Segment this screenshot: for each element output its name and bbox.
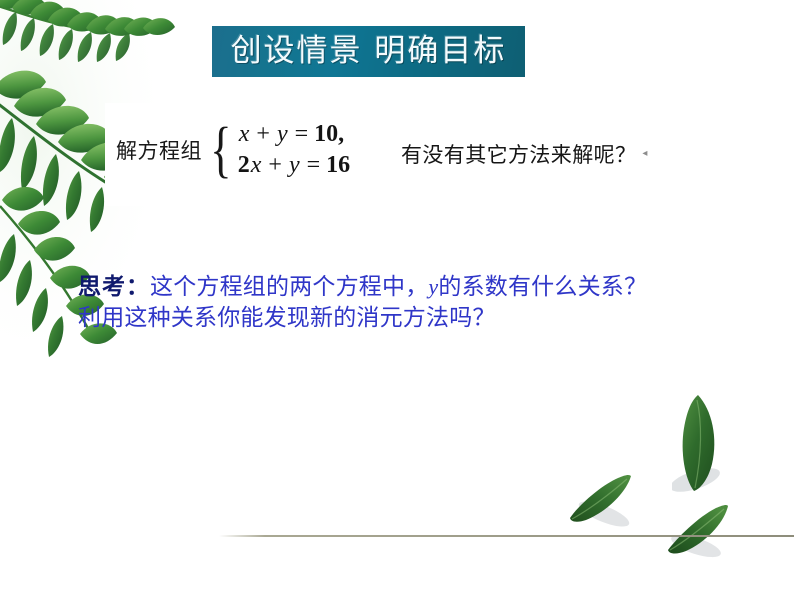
thinking-line-1-part2: 的系数有什么关系？ bbox=[438, 274, 647, 300]
thinking-line-2: 利用这种关系你能发现新的消元方法吗？ bbox=[78, 303, 738, 334]
equation-line-2: 2x + y = 16 bbox=[238, 153, 350, 178]
leaf-lower-right-icon bbox=[666, 502, 732, 560]
equation-line-1: x + y = 10, bbox=[238, 122, 350, 147]
leaf-upper-right-icon bbox=[672, 392, 724, 496]
leaf-middle-icon bbox=[570, 470, 636, 532]
thinking-line-1-part1: 这个方程组的两个方程中， bbox=[150, 274, 428, 300]
equation-line-1-rhs: 10, bbox=[314, 121, 344, 147]
side-prompt-text: 有没有其它方法来解呢？ bbox=[401, 139, 636, 169]
thinking-question-block: 思考：这个方程组的两个方程中，y的系数有什么关系？ 利用这种关系你能发现新的消元… bbox=[78, 272, 738, 333]
equation-group: 解方程组 { x + y = 10, 2x + y = 16 bbox=[116, 122, 350, 178]
page-title: 创设情景 明确目标 bbox=[231, 36, 507, 67]
slide-canvas: 创设情景 明确目标 解方程组 { x + y = 10, 2x + y = 16… bbox=[0, 0, 794, 596]
equation-line-2-rhs: 16 bbox=[326, 152, 350, 178]
equation-label: 解方程组 bbox=[116, 135, 202, 165]
slide-title-banner: 创设情景 明确目标 bbox=[212, 26, 525, 77]
thinking-line-1: 思考：这个方程组的两个方程中，y的系数有什么关系？ bbox=[78, 272, 738, 303]
thinking-lead-label: 思考： bbox=[78, 274, 150, 300]
animation-trigger-marker-icon[interactable]: ◂ bbox=[642, 149, 647, 159]
horizontal-divider bbox=[219, 535, 794, 537]
equation-system: x + y = 10, 2x + y = 16 bbox=[238, 122, 350, 178]
side-prompt-group: 有没有其它方法来解呢？ ◂ bbox=[401, 139, 647, 169]
equation-line-2-coeff: 2 bbox=[238, 152, 250, 178]
thinking-variable-y: y bbox=[428, 274, 438, 299]
left-brace-icon: { bbox=[210, 125, 231, 176]
